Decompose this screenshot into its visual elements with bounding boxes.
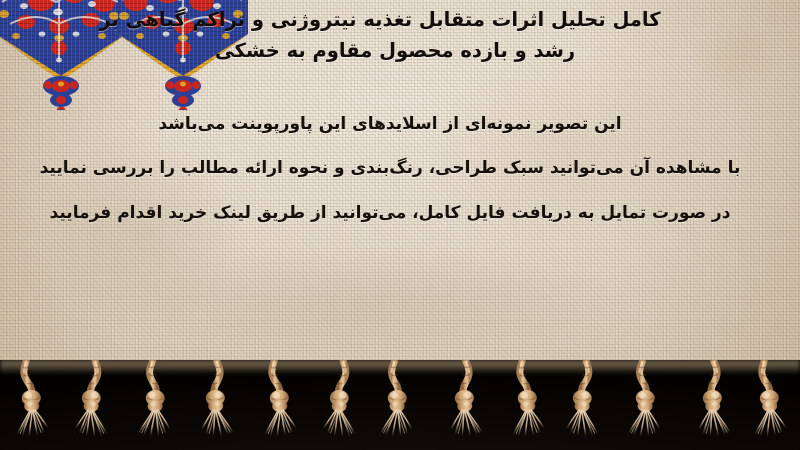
fringe-tassel [744, 360, 790, 438]
fringe-tassel [375, 360, 421, 438]
fringe-tassel [133, 360, 179, 438]
fringe-tassel [560, 360, 606, 438]
fringe-tassel [190, 360, 236, 438]
fringe-tassel [69, 360, 115, 438]
fringe-tassel [6, 360, 52, 438]
slide-title-line-1: کامل تحلیل اثرات متقابل تغذیه نیتروژنی و… [0, 4, 790, 35]
slide-body: این تصویر نمونه‌ای از اسلایدهای این پاور… [0, 112, 780, 225]
slide-body-line-1: این تصویر نمونه‌ای از اسلایدهای این پاور… [0, 112, 780, 136]
fringe-tassel [502, 360, 548, 438]
slide-title: کامل تحلیل اثرات متقابل تغذیه نیتروژنی و… [0, 4, 790, 66]
slide-body-line-3: در صورت تمایل به دریافت فایل کامل، می‌تو… [0, 201, 780, 225]
fringe-tassel [623, 360, 669, 438]
slide-title-line-2: رشد و بازده محصول مقاوم به خشکی [0, 35, 790, 66]
fringe-tassel [439, 360, 485, 438]
fringe-tassel [254, 360, 300, 438]
fringe-tassel [317, 360, 363, 438]
presentation-slide: کامل تحلیل اثرات متقابل تغذیه نیتروژنی و… [0, 0, 800, 450]
slide-body-line-2: با مشاهده آن می‌توانید سبک طراحی، رنگ‌بن… [0, 156, 780, 180]
fringe-tassel [687, 360, 733, 438]
carpet-fringe [0, 360, 800, 450]
